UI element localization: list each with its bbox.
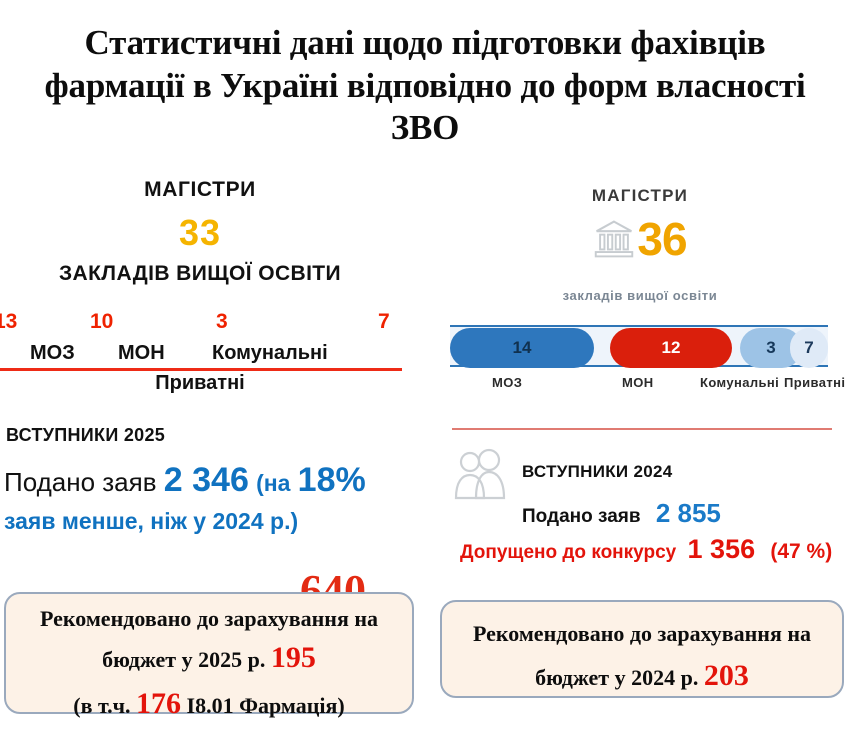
- left-box-line1: Рекомендовано до зарахування на: [16, 602, 402, 635]
- page-title: Статистичні дані щодо підготовки фахівці…: [0, 22, 850, 150]
- left-label-mon: МОН: [118, 342, 165, 365]
- right-masters-label: МАГІСТРИ: [430, 186, 850, 206]
- left-box-line3: (в т.ч. 176 I8.01 Фармація): [16, 681, 402, 727]
- left-value-mon: 10: [90, 310, 113, 334]
- left-value-moz: 13: [0, 310, 17, 334]
- right-admitted-prefix: Допущено до конкурсу: [460, 542, 676, 563]
- right-institutions-count: 36: [637, 216, 686, 262]
- bar-segment-mon: 12: [610, 328, 732, 368]
- left-applications-note-rest: заяв менше, ніж у 2024 р.): [4, 508, 298, 534]
- right-admitted-text: Допущено до конкурсу 1 356 (47 %): [460, 534, 832, 565]
- bar-label-moz: МОЗ: [492, 375, 522, 390]
- left-institutions-subtitle: ЗАКЛАДІВ ВИЩОЇ ОСВІТИ: [0, 262, 400, 286]
- right-admitted-value: 1 356: [688, 534, 756, 564]
- right-admitted-percent: (47 %): [770, 540, 832, 563]
- left-box-line3-suffix: I8.01 Фармація): [187, 693, 345, 718]
- right-applications-prefix: Подано заяв: [522, 506, 641, 527]
- left-masters-label: МАГІСТРИ: [0, 178, 400, 202]
- left-value-communal: 3: [216, 310, 228, 334]
- right-budget-box: Рекомендовано до зарахування на бюджет у…: [440, 600, 844, 698]
- left-label-private: Приватні: [0, 372, 400, 395]
- right-applications-value: 2 855: [656, 498, 721, 528]
- bar-segment-moz: 14: [450, 328, 594, 368]
- right-box-line2-prefix: бюджет у 2024 р.: [535, 665, 698, 690]
- segmented-bar-chart: 14 12 3 7: [450, 325, 828, 367]
- bar-label-private: Приватні: [784, 375, 845, 390]
- bar-chart-labels: МОЗ МОН Комунальні Приватні: [450, 375, 840, 397]
- left-label-moz: МОЗ: [30, 342, 75, 365]
- right-box-line1: Рекомендовано до зарахування на: [456, 616, 828, 652]
- right-institutions-row: 36: [430, 216, 850, 262]
- left-breakdown-values: 13 10 3 7: [0, 310, 420, 340]
- bar-segment-private: 7: [790, 328, 828, 368]
- left-applications-note-open: (на: [256, 470, 290, 496]
- left-box-line3-prefix: (в т.ч.: [73, 693, 130, 718]
- right-entrants-title: ВСТУПНИКИ 2024: [522, 462, 673, 482]
- left-red-divider: [0, 368, 402, 371]
- left-entrants-title: ВСТУПНИКИ 2025: [6, 425, 165, 446]
- left-box-line2: бюджет у 2025 р. 195: [16, 635, 402, 681]
- right-box-budget-value: 203: [704, 659, 749, 692]
- right-box-line2: бюджет у 2024 р. 203: [456, 652, 828, 701]
- left-box-budget-value: 195: [271, 641, 316, 674]
- left-breakdown-labels: МОЗ МОН Комунальні: [0, 342, 420, 370]
- left-box-line2-prefix: бюджет у 2025 р.: [102, 647, 265, 672]
- left-applications-prefix: Подано заяв: [4, 467, 157, 497]
- left-institutions-count: 33: [0, 212, 400, 254]
- people-icon: [452, 448, 508, 502]
- left-applications-value: 2 346: [164, 461, 249, 499]
- left-budget-box: Рекомендовано до зарахування на бюджет у…: [4, 592, 414, 714]
- left-label-communal: Комунальні: [212, 342, 328, 365]
- bar-label-mon: МОН: [622, 375, 654, 390]
- bank-icon: [593, 219, 635, 259]
- left-applications-text: Подано заяв 2 346 (на 18% заяв менше, ні…: [4, 458, 420, 537]
- right-applications-text: Подано заяв 2 855: [522, 498, 721, 529]
- right-red-divider: [452, 428, 832, 430]
- left-value-private: 7: [378, 310, 390, 334]
- bar-label-communal: Комунальні: [700, 375, 779, 390]
- right-institutions-subtitle: закладів вищої освіти: [430, 288, 850, 303]
- left-box-pharmacy-value: 176: [136, 687, 181, 720]
- left-applications-percent: 18%: [298, 461, 366, 499]
